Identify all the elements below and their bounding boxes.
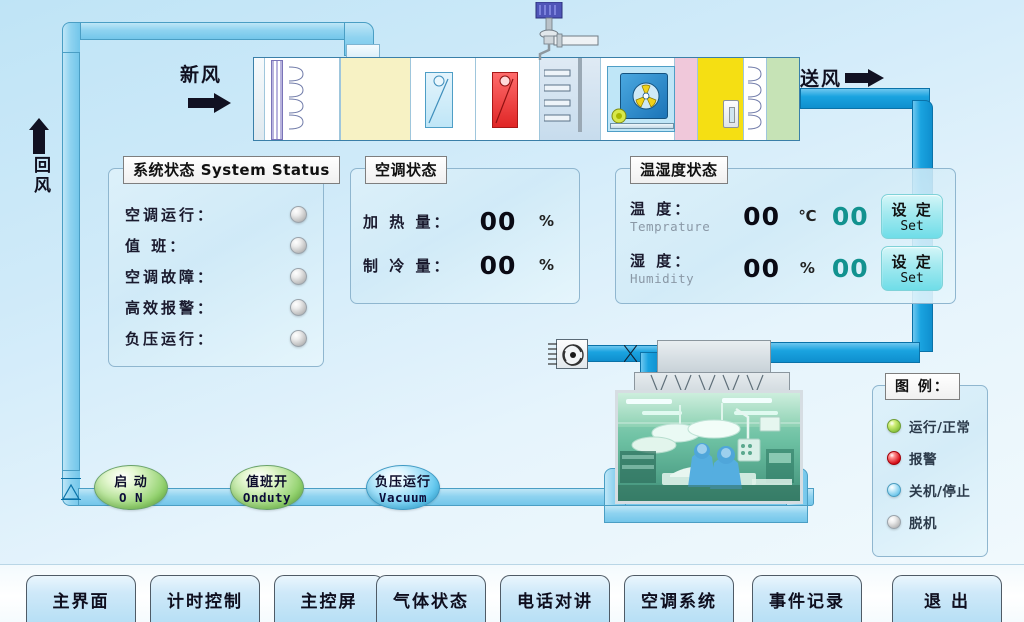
temperature-label: 温 度： xyxy=(630,198,736,219)
diffuser-plenum xyxy=(657,340,771,373)
temperature-set-button-en: Set xyxy=(900,219,923,234)
duct-damper-marker-icon xyxy=(624,345,637,362)
cooling-label: 制 冷 量： xyxy=(363,255,469,276)
tab-label-main-screen: 主界面 xyxy=(53,587,110,612)
tab-label-hvac-system: 空调系统 xyxy=(641,587,717,612)
vacuum-button-cn: 负压运行 xyxy=(375,471,431,490)
ahu-hepa-filter xyxy=(767,58,799,140)
cooling-value: 00 xyxy=(469,251,527,280)
legend-led-alarm xyxy=(887,451,901,465)
start-button[interactable]: 启 动 O N xyxy=(94,465,168,510)
status-label-negative-pressure: 负压运行： xyxy=(125,328,215,349)
tab-main-control-panel[interactable]: 主控屏 xyxy=(274,575,384,622)
vacuum-button-en: Vacuum xyxy=(379,490,427,505)
supply-air-arrow-icon xyxy=(845,68,885,92)
tab-exit[interactable]: 退 出 xyxy=(892,575,1002,622)
tab-label-main-control-panel: 主控屏 xyxy=(301,587,358,612)
onduty-button[interactable]: 值班开 Onduty xyxy=(230,465,304,510)
status-row: 值 班： xyxy=(125,230,307,261)
humidity-row: 湿 度： Humidity 00 % 00 设 定 Set xyxy=(630,243,943,293)
temp-humidity-title: 温湿度状态 xyxy=(630,156,728,184)
legend-led-stopped xyxy=(887,483,901,497)
air-handling-unit xyxy=(253,57,800,141)
tab-timer-control[interactable]: 计时控制 xyxy=(150,575,260,622)
hvac-status-panel: 空调状态 加 热 量： 00 % 制 冷 量： 00 % xyxy=(350,168,580,304)
tab-label-timer-control: 计时控制 xyxy=(167,587,243,612)
start-button-cn: 启 动 xyxy=(114,471,148,490)
supply-air-text: 送风 xyxy=(800,64,842,91)
temperature-set-button[interactable]: 设 定 Set xyxy=(881,194,943,239)
legend-item-stopped: 关机/停止 xyxy=(887,480,987,500)
status-led-hepa-alarm[interactable] xyxy=(290,299,307,316)
return-air-text: 回风 xyxy=(30,156,50,196)
duct-left-vertical xyxy=(62,52,80,476)
legend-label-offline: 脱机 xyxy=(909,512,937,532)
heating-value: 00 xyxy=(469,207,527,236)
temperature-row: 温 度： Temprature 00 ℃ 00 设 定 Set xyxy=(630,191,943,241)
legend-item-running: 运行/正常 xyxy=(887,416,987,436)
vacuum-button[interactable]: 负压运行 Vacuum xyxy=(366,465,440,510)
status-led-negative-pressure[interactable] xyxy=(290,330,307,347)
tab-label-exit: 退 出 xyxy=(924,587,970,612)
return-air-label: 回风 xyxy=(30,156,50,201)
status-row: 空调运行： xyxy=(125,199,307,230)
ahu-humidifier xyxy=(540,58,602,140)
legend-panel: 图 例： 运行/正常 报警 关机/停止 脱机 xyxy=(872,385,988,557)
legend-item-alarm: 报警 xyxy=(887,448,987,468)
fresh-air-text: 新风 xyxy=(180,60,222,87)
legend-led-running xyxy=(887,419,901,433)
heating-label: 加 热 量： xyxy=(363,211,469,232)
hvac-status-title: 空调状态 xyxy=(365,156,447,184)
duct-top-left-horizontal xyxy=(80,22,356,40)
temperature-set-button-cn: 设 定 xyxy=(891,199,932,220)
tab-main-screen[interactable]: 主界面 xyxy=(26,575,136,622)
system-status-title: 系统状态 System Status xyxy=(123,156,340,184)
status-led-onduty[interactable] xyxy=(290,237,307,254)
temperature-value: 00 xyxy=(736,202,788,231)
humidity-label: 湿 度： xyxy=(630,250,736,271)
system-status-panel: 系统状态 System Status 空调运行： 值 班： 空调故障： 高效报警… xyxy=(108,168,324,367)
humidity-unit: % xyxy=(787,259,827,277)
status-label-onduty: 值 班： xyxy=(125,235,187,256)
hvac-row-cooling: 制 冷 量： 00 % xyxy=(363,243,565,287)
temperature-unit: ℃ xyxy=(787,207,827,225)
legend-label-alarm: 报警 xyxy=(909,448,937,468)
legend-title: 图 例： xyxy=(885,373,960,400)
humidity-value: 00 xyxy=(736,254,788,283)
duct-or-floor xyxy=(604,505,808,523)
onduty-button-cn: 值班开 xyxy=(246,471,288,490)
temperature-setpoint: 00 xyxy=(827,202,873,231)
tab-gas-status[interactable]: 气体状态 xyxy=(376,575,486,622)
humidity-setpoint: 00 xyxy=(827,254,873,283)
ahu-access-section xyxy=(698,58,744,140)
onduty-button-en: Onduty xyxy=(243,490,291,505)
damper-valve-icon xyxy=(61,478,81,500)
humidity-set-button[interactable]: 设 定 Set xyxy=(881,246,943,291)
temperature-sublabel: Temprature xyxy=(630,219,736,234)
status-led-ac-run[interactable] xyxy=(290,206,307,223)
operating-room-photo xyxy=(615,390,803,504)
supply-air-label: 送风 xyxy=(800,64,842,91)
return-air-arrow-icon xyxy=(28,118,50,158)
exhaust-fan-icon xyxy=(556,339,588,369)
legend-item-offline: 脱机 xyxy=(887,512,987,532)
humidity-set-button-en: Set xyxy=(900,271,923,286)
temp-humidity-panel: 温湿度状态 温 度： Temprature 00 ℃ 00 设 定 Set 湿 … xyxy=(615,168,956,304)
legend-led-offline xyxy=(887,515,901,529)
hvac-monitor-screen: 新风 送风 回风 系统状态 System Status 空调运行： 值 班： xyxy=(0,0,1024,622)
tab-intercom[interactable]: 电话对讲 xyxy=(500,575,610,622)
hvac-row-heating: 加 热 量： 00 % xyxy=(363,199,565,243)
tab-hvac-system[interactable]: 空调系统 xyxy=(624,575,734,622)
duct-to-diffuser xyxy=(770,342,920,363)
legend-label-stopped: 关机/停止 xyxy=(909,480,970,500)
status-label-hepa-alarm: 高效报警： xyxy=(125,297,215,318)
humidity-set-button-cn: 设 定 xyxy=(891,251,932,272)
heating-unit: % xyxy=(539,212,554,230)
status-label-ac-fault: 空调故障： xyxy=(125,266,215,287)
status-label-ac-run: 空调运行： xyxy=(125,204,215,225)
ahu-medium-filter xyxy=(675,58,698,140)
tab-label-gas-status: 气体状态 xyxy=(393,587,469,612)
status-row: 空调故障： xyxy=(125,261,307,292)
ahu-supply-fan xyxy=(601,58,675,140)
tab-event-log[interactable]: 事件记录 xyxy=(752,575,862,622)
tab-label-event-log: 事件记录 xyxy=(769,587,845,612)
fan-louver-icon xyxy=(548,341,557,367)
status-led-ac-fault[interactable] xyxy=(290,268,307,285)
start-button-en: O N xyxy=(119,490,143,505)
fresh-air-label: 新风 xyxy=(180,60,222,87)
status-row: 负压运行： xyxy=(125,323,307,354)
legend-label-running: 运行/正常 xyxy=(909,416,970,436)
humidity-sublabel: Humidity xyxy=(630,271,736,286)
bottom-tab-bar: 主界面 计时控制 主控屏 气体状态 电话对讲 空调系统 事件记录 退 出 xyxy=(0,564,1024,622)
status-row: 高效报警： xyxy=(125,292,307,323)
tab-label-intercom: 电话对讲 xyxy=(517,587,593,612)
cooling-unit: % xyxy=(539,256,554,274)
ahu-prefilter xyxy=(340,58,411,140)
humidifier-valve-icon xyxy=(524,2,602,60)
fresh-air-arrow-icon xyxy=(188,92,232,118)
